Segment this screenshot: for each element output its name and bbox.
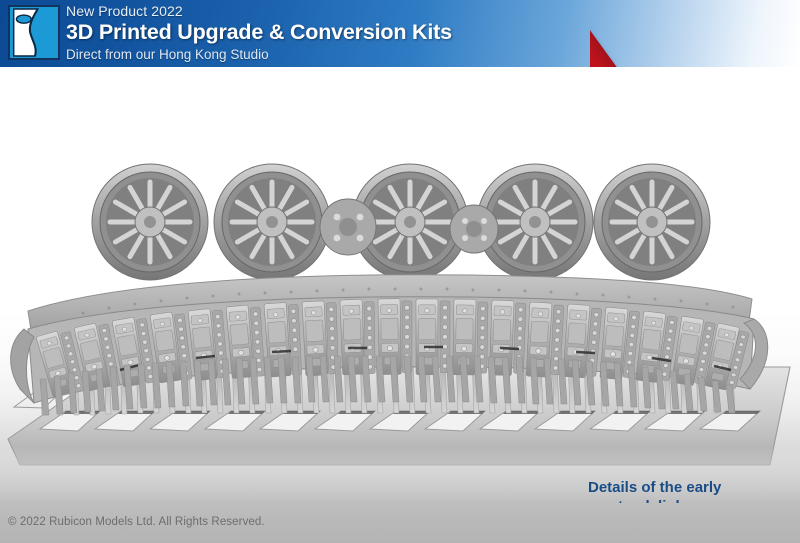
page-title: 3D Printed Upgrade & Conversion Kits [66, 20, 452, 45]
photo-caption: Details of the early war track links [588, 478, 721, 503]
product-photo: Details of the early war track links [0, 67, 800, 503]
caption-line-1: Details of the early [588, 478, 721, 497]
new-product-ribbon: NEW PRODUCT PREVIEW 2022 [590, 22, 778, 67]
header-text-block: New Product 2022 3D Printed Upgrade & Co… [66, 2, 452, 64]
page-header: New Product 2022 3D Printed Upgrade & Co… [0, 0, 800, 67]
logo-r-icon [10, 7, 58, 58]
product-preview-page: New Product 2022 3D Printed Upgrade & Co… [0, 0, 800, 543]
header-eyebrow: New Product 2022 [66, 2, 452, 20]
copyright-text: © 2022 Rubicon Models Ltd. All Rights Re… [8, 516, 265, 528]
page-footer: © 2022 Rubicon Models Ltd. All Rights Re… [0, 503, 800, 543]
track-links-illustration [0, 67, 800, 503]
corner-ribbon-container: NEW PRODUCT PREVIEW 2022 [590, 0, 800, 67]
header-subtitle: Direct from our Hong Kong Studio [66, 46, 452, 64]
rubicon-logo [8, 5, 60, 60]
